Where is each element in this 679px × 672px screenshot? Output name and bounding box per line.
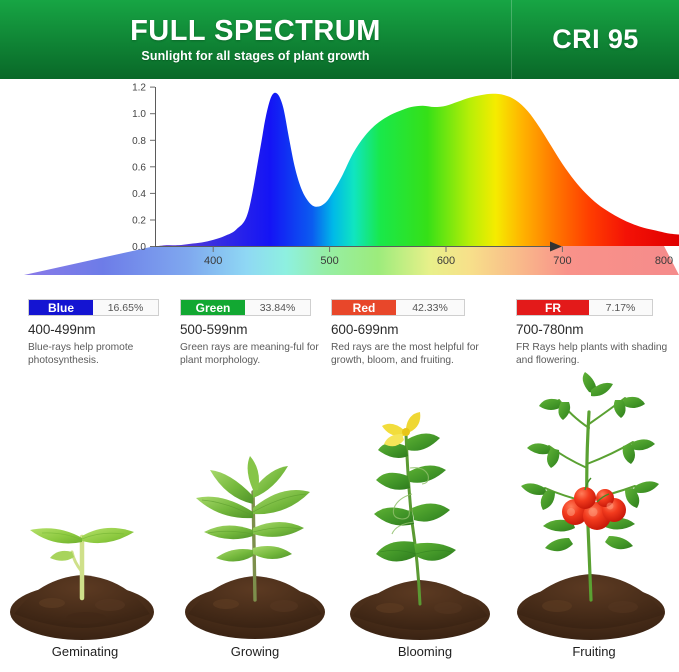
legend-band-description: FR Rays help plants with shading and flo… xyxy=(516,341,676,367)
x-tick-700: 700 xyxy=(553,255,571,267)
legend-band-red: Red 42.33% 600-699nm Red rays are the mo… xyxy=(331,299,483,367)
header-banner: FULL SPECTRUM Sunlight for all stages of… xyxy=(0,0,679,79)
seedling-plant-image xyxy=(0,372,170,644)
y-tick-3: 0.6 xyxy=(132,162,146,173)
growth-stage-label-fruiting: Fruiting xyxy=(509,644,679,659)
legend-band-green: Green 33.84% 500-599nm Green rays are me… xyxy=(180,299,332,367)
growth-stage-image-growing xyxy=(170,372,340,644)
growth-stage-image-geminating xyxy=(0,372,170,644)
y-tick-2: 0.4 xyxy=(132,189,146,200)
y-axis-ticks xyxy=(150,87,155,246)
spectrum-chart-svg: 0.0 0.2 0.4 0.6 0.8 1.0 1.2 400 500 600 … xyxy=(0,79,679,294)
legend-band-range: 600-699nm xyxy=(331,322,483,337)
legend-badge-green: Green 33.84% xyxy=(180,299,311,316)
legend-badge-red: Red 42.33% xyxy=(331,299,465,316)
cri-badge: CRI 95 xyxy=(552,24,638,55)
legend-band-percent: 16.65% xyxy=(93,300,158,315)
legend-band-name: Red xyxy=(332,300,396,315)
legend-band-blue: Blue 16.65% 400-499nm Blue-rays help pro… xyxy=(28,299,180,367)
x-tick-800: 800 xyxy=(655,255,673,267)
tomato-plant-image xyxy=(509,372,679,644)
y-tick-6: 1.2 xyxy=(132,83,146,94)
legend-band-description: Blue-rays help promote photosynthesis. xyxy=(28,341,176,367)
growth-stage-image-blooming xyxy=(340,372,510,644)
growth-stage-label-growing: Growing xyxy=(170,644,340,659)
legend-band-percent: 33.84% xyxy=(245,300,310,315)
spectrum-chart: 0.0 0.2 0.4 0.6 0.8 1.0 1.2 400 500 600 … xyxy=(0,79,679,294)
x-tick-400: 400 xyxy=(204,255,222,267)
legend-band-range: 500-599nm xyxy=(180,322,332,337)
page-subtitle: Sunlight for all stages of plant growth xyxy=(141,49,369,63)
legend-badge-fr: FR 7.17% xyxy=(516,299,653,316)
y-axis-tick-labels: 0.0 0.2 0.4 0.6 0.8 1.0 1.2 xyxy=(132,83,146,253)
legend-band-percent: 7.17% xyxy=(589,300,652,315)
y-tick-5: 1.0 xyxy=(132,109,146,120)
growth-stages-images xyxy=(0,372,679,644)
legend-band-name: FR xyxy=(517,300,589,315)
y-tick-0: 0.0 xyxy=(132,242,146,253)
legend-band-percent: 42.33% xyxy=(396,300,464,315)
legend-band-name: Green xyxy=(181,300,245,315)
legend-band-fr: FR 7.17% 700-780nm FR Rays help plants w… xyxy=(516,299,668,367)
growth-stage-label-geminating: Geminating xyxy=(0,644,170,659)
legend-badge-blue: Blue 16.65% xyxy=(28,299,159,316)
sapling-plant-image xyxy=(170,372,340,644)
y-tick-1: 0.2 xyxy=(132,216,146,227)
growth-stage-image-fruiting xyxy=(509,372,679,644)
growth-stage-captions: Geminating Growing Blooming Fruiting xyxy=(0,644,679,672)
x-tick-600: 600 xyxy=(437,255,455,267)
legend-band-description: Green rays are meaning-ful for plant mor… xyxy=(180,341,328,367)
header-right-section: CRI 95 xyxy=(512,0,679,79)
x-tick-500: 500 xyxy=(320,255,338,267)
spectrum-legend: Blue 16.65% 400-499nm Blue-rays help pro… xyxy=(0,294,679,372)
page-title: FULL SPECTRUM xyxy=(130,16,381,46)
y-tick-4: 0.8 xyxy=(132,136,146,147)
spectrum-fan-band xyxy=(24,246,679,275)
legend-band-range: 700-780nm xyxy=(516,322,668,337)
legend-band-name: Blue xyxy=(29,300,93,315)
growth-stage-label-blooming: Blooming xyxy=(340,644,510,659)
header-left-section: FULL SPECTRUM Sunlight for all stages of… xyxy=(0,0,511,79)
legend-band-range: 400-499nm xyxy=(28,322,180,337)
legend-band-description: Red rays are the most helpful for growth… xyxy=(331,341,491,367)
spectrum-curve-fill xyxy=(155,87,679,246)
flowering-plant-image xyxy=(340,372,510,644)
